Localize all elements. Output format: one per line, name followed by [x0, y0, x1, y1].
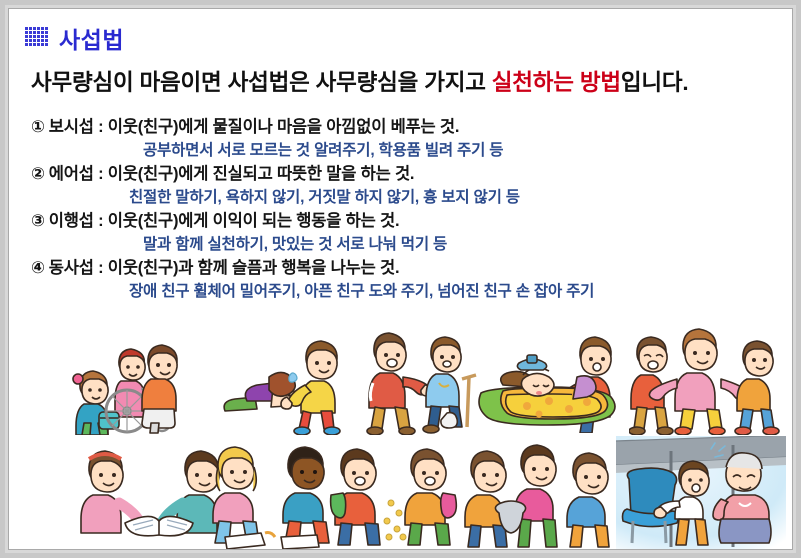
boy-offering-bus-seat-to-elderly-woman-scene [615, 435, 787, 549]
children-comforting-crying-friend-scene [629, 321, 789, 437]
children-sharing-snack-scene [329, 437, 469, 549]
illustration-row-2 [21, 435, 783, 549]
list-item-number: ④ [31, 259, 45, 277]
list-item-text: 에어섭 : 이웃(친구)에게 진실되고 따뜻한 말을 하는 것. [49, 165, 415, 183]
list-item-number: ③ [31, 212, 45, 230]
subtitle-before: 사무량심이 마음이면 사섭법은 사무량심을 가지고 [31, 70, 492, 95]
list-item: ④동사섭 : 이웃(친구)과 함께 슬픔과 행복을 나누는 것. 장애 친구 휠… [31, 257, 791, 303]
list-item-main: ③이행섭 : 이웃(친구)에게 이익이 되는 행동을 하는 것. [31, 210, 791, 233]
list-item-sub: 장애 친구 휠체어 밀어주기, 아픈 친구 도와 주기, 넘어진 친구 손 잡아… [31, 280, 791, 303]
list-item-number: ① [31, 118, 45, 136]
list-item-main: ①보시섭 : 이웃(친구)에게 물질이나 마음을 아낌없이 베푸는 것. [31, 116, 791, 139]
children-cleaning-trash-together-scene [463, 441, 613, 549]
illustration-row-1 [21, 319, 783, 435]
list-item: ①보시섭 : 이웃(친구)에게 물질이나 마음을 아낌없이 베푸는 것. 공부하… [31, 116, 791, 162]
list-item-main: ④동사섭 : 이웃(친구)과 함께 슬픔과 행복을 나누는 것. [31, 257, 791, 280]
list-item-sub: 말과 함께 실천하기, 맛있는 것 서로 나눠 먹기 등 [31, 233, 791, 256]
list-item-main: ②에어섭 : 이웃(친구)에게 진실되고 따뜻한 말을 하는 것. [31, 163, 791, 186]
list-item-text: 보시섭 : 이웃(친구)에게 물질이나 마음을 아낌없이 베푸는 것. [49, 118, 459, 136]
method-list: ①보시섭 : 이웃(친구)에게 물질이나 마음을 아낌없이 베푸는 것. 공부하… [31, 116, 791, 304]
list-item-text: 동사섭 : 이웃(친구)과 함께 슬픔과 행복을 나누는 것. [49, 259, 400, 277]
list-item-number: ② [31, 165, 45, 183]
list-item-text: 이행섭 : 이웃(친구)에게 이익이 되는 행동을 하는 것. [49, 212, 400, 230]
grid-dots-icon [25, 26, 49, 50]
child-caring-for-sick-friend-in-bed-scene [473, 333, 633, 449]
title-row: 사섭법 [25, 21, 124, 55]
subtitle-highlight: 실천하는 방법 [492, 70, 621, 95]
page-title: 사섭법 [59, 21, 124, 55]
slide-content: 사섭법 사무량심이 마음이면 사섭법은 사무량심을 가지고 실천하는 방법입니다… [9, 9, 792, 549]
child-supporting-injured-friend-scene [361, 321, 491, 437]
illustration-gallery [21, 319, 783, 549]
children-drawing-together-scene [205, 441, 345, 549]
child-helping-fallen-friend-scene [217, 333, 357, 449]
subtitle-line: 사무량심이 마음이면 사섭법은 사무량심을 가지고 실천하는 방법입니다. [31, 65, 688, 97]
list-item: ③이행섭 : 이웃(친구)에게 이익이 되는 행동을 하는 것. 말과 함께 실… [31, 210, 791, 256]
slide-canvas: 사섭법 사무량심이 마음이면 사섭법은 사무량심을 가지고 실천하는 방법입니다… [0, 0, 801, 558]
list-item-sub: 친절한 말하기, 욕하지 않기, 거짓말 하지 않기, 흉 보지 않기 등 [31, 186, 791, 209]
subtitle-after: 입니다. [621, 70, 689, 95]
list-item-sub: 공부하면서 서로 모르는 것 알려주기, 학용품 빌려 주기 등 [31, 139, 791, 162]
list-item: ②에어섭 : 이웃(친구)에게 진실되고 따뜻한 말을 하는 것. 친절한 말하… [31, 163, 791, 209]
